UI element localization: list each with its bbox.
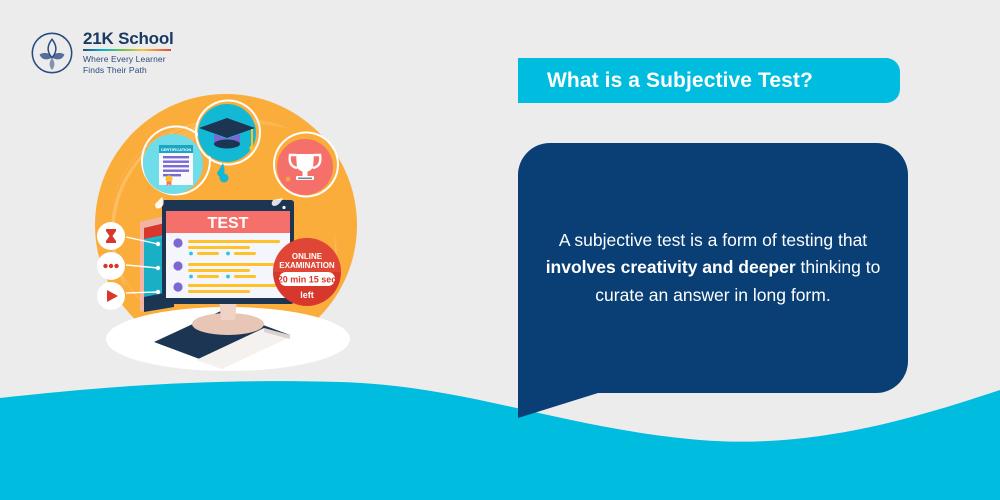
- side-icon-play: [97, 282, 125, 310]
- online-exam-illustration: TEST: [78, 92, 378, 382]
- side-icon-hourglass: [97, 222, 125, 250]
- answer-text: A subjective test is a form of testing t…: [544, 227, 882, 310]
- answer-text-bold: involves creativity and deeper: [546, 257, 796, 277]
- logo-tagline-line2: Finds Their Path: [83, 65, 174, 76]
- timer-label-line3: left: [300, 290, 314, 300]
- answer-speech-bubble: A subjective test is a form of testing t…: [518, 143, 908, 393]
- answer-text-part1: A subjective test is a form of testing t…: [559, 230, 867, 250]
- timer-label-line2: EXAMINATION: [279, 261, 335, 270]
- timer-value: 20 min 15 sec: [278, 275, 337, 285]
- logo-name: 21K School: [83, 30, 174, 47]
- page-title: What is a Subjective Test?: [547, 69, 813, 93]
- poster-canvas: 21K School Where Every Learner Finds The…: [0, 0, 1000, 500]
- brand-logo[interactable]: 21K School Where Every Learner Finds The…: [30, 30, 174, 76]
- logo-tagline-line1: Where Every Learner: [83, 54, 174, 65]
- test-header-label: TEST: [208, 215, 249, 232]
- speech-bubble-tail: [518, 393, 598, 418]
- certificate-title: CERTIFICATION: [161, 147, 192, 152]
- lotus-circle-icon: [30, 31, 74, 75]
- header-banner: What is a Subjective Test?: [518, 58, 900, 103]
- side-icon-dots: [97, 252, 125, 280]
- timer-label-line1: ONLINE: [292, 252, 323, 261]
- logo-gradient-rule: [83, 49, 171, 51]
- online-exam-timer-badge: ONLINE EXAMINATION 20 min 15 sec left: [273, 238, 341, 306]
- answer-text-container: A subjective test is a form of testing t…: [518, 143, 908, 393]
